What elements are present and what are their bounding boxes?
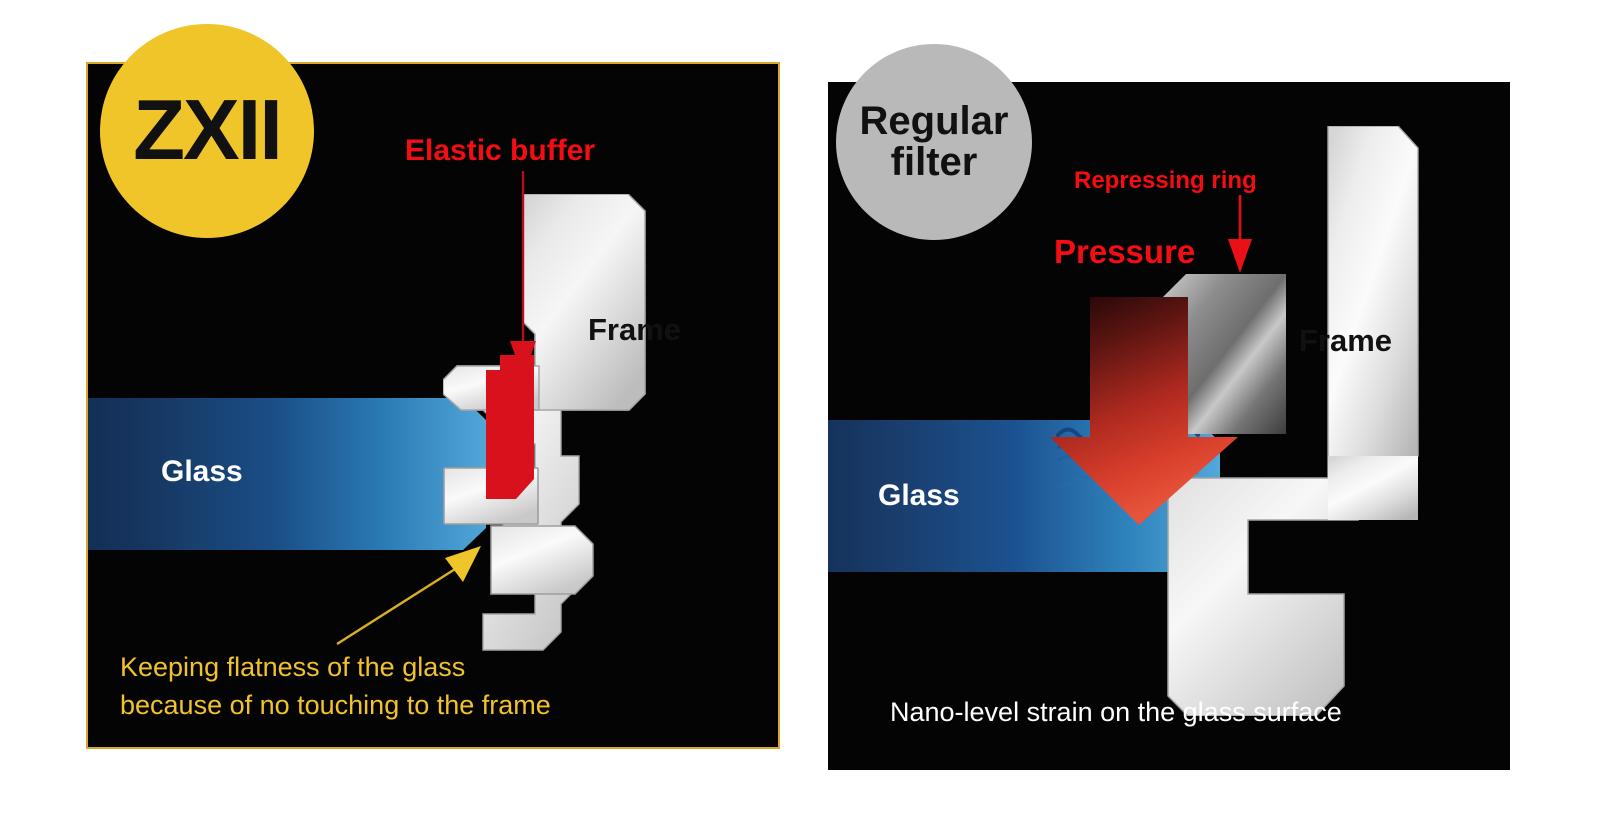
glass-label-left: Glass: [161, 455, 243, 489]
badge-zxii-label: ZXII: [133, 88, 281, 175]
frame-label-right: Frame: [1299, 323, 1392, 359]
caption-right-line1: Nano-level strain on the glass surface: [890, 697, 1342, 728]
caption-left-line2: because of no touching to the frame: [120, 686, 551, 724]
caption-left-line1: Keeping flatness of the glass: [120, 648, 551, 686]
diagram-stage: Glass: [0, 0, 1600, 823]
glass-slab-left: Glass: [88, 398, 486, 550]
badge-regular-filter: Regular filter: [836, 44, 1032, 240]
repressing-ring-leader-arrow: [1226, 195, 1254, 277]
pressure-arrow: [1050, 297, 1240, 527]
frame-label-left: Frame: [588, 312, 681, 348]
badge-regular-label-line2: filter: [860, 142, 1009, 183]
badge-regular-label-line1: Regular: [860, 101, 1009, 142]
repressing-ring-callout: Repressing ring: [1074, 167, 1257, 195]
elastic-buffer-leader-arrow: [508, 171, 538, 386]
caption-right: Nano-level strain on the glass surface: [890, 697, 1342, 728]
elastic-buffer-callout: Elastic buffer: [405, 134, 595, 168]
glass-label-right: Glass: [878, 479, 960, 513]
badge-zxii: ZXII: [100, 24, 314, 238]
caption-left: Keeping flatness of the glass because of…: [120, 648, 551, 725]
flatness-leader-arrow: [331, 538, 491, 648]
pressure-callout: Pressure: [1054, 233, 1195, 271]
